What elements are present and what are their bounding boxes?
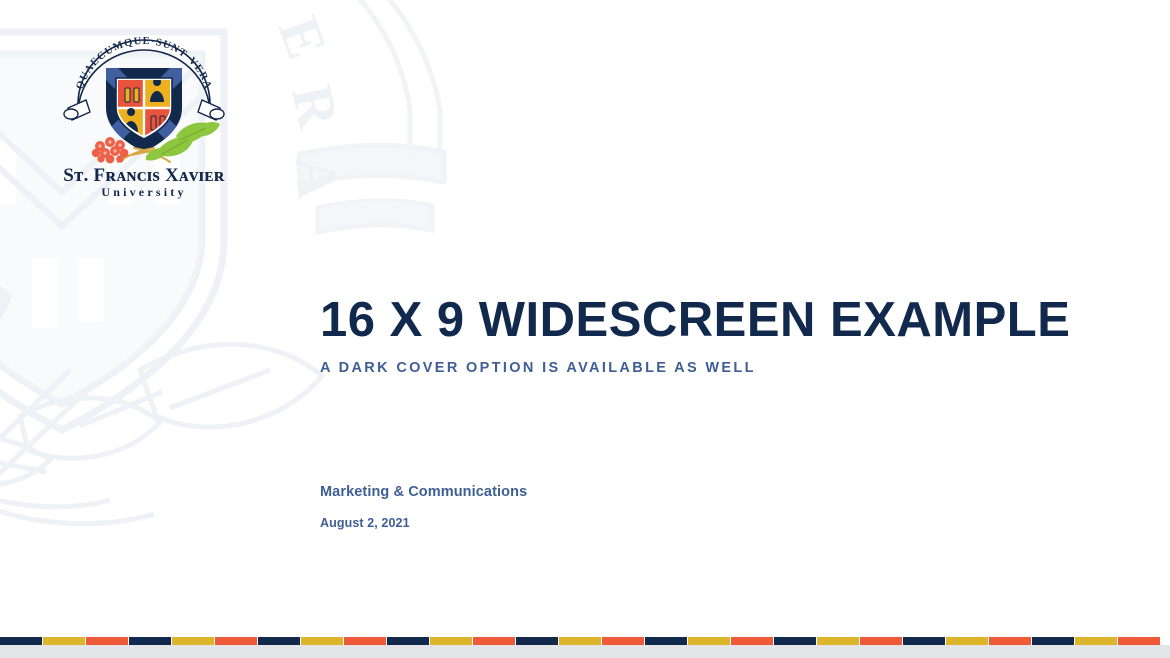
footer-stripe-segment-gold [817, 637, 859, 645]
footer-stripe-segment-gold [43, 637, 85, 645]
slide-title: 16 X 9 WIDESCREEN EXAMPLE [320, 295, 1080, 346]
footer-stripe-segment-orange [731, 637, 773, 645]
wordmark-line1: Sᴛ. Fʀᴀɴᴄɪs Xᴀᴠɪᴇʀ [63, 165, 224, 186]
footer-stripe-segment-navy [516, 637, 558, 645]
presenter-block: Marketing & Communications August 2, 202… [320, 484, 880, 530]
footer-stripe-segment-navy [645, 637, 687, 645]
footer-stripe-segment-gold [430, 637, 472, 645]
footer-stripe-segment-orange [1118, 637, 1160, 645]
footer-stripe-segment-orange [602, 637, 644, 645]
title-block: 16 X 9 WIDESCREEN EXAMPLE A DARK COVER O… [320, 295, 1080, 376]
footer-stripe-segment-navy [774, 637, 816, 645]
footer-accent-stripe [0, 637, 1170, 645]
footer-stripe-segment-orange [473, 637, 515, 645]
presentation-slide: V E R A [0, 0, 1170, 658]
footer-stripe-segment-gold [688, 637, 730, 645]
presenter-name: Marketing & Communications [320, 484, 880, 500]
university-wordmark: Sᴛ. Fʀᴀɴᴄɪs Xᴀᴠɪᴇʀ University [33, 162, 255, 202]
footer-stripe-segment-navy [258, 637, 300, 645]
footer-stripe-segment-orange [215, 637, 257, 645]
svg-text:E: E [266, 8, 340, 67]
footer-stripe-segment-navy [387, 637, 429, 645]
footer-stripe-segment-gold [559, 637, 601, 645]
svg-text:A: A [283, 154, 351, 200]
footer-stripe-segment-gold [172, 637, 214, 645]
slide-subtitle: A DARK COVER OPTION IS AVAILABLE AS WELL [320, 360, 1080, 376]
footer-stripe-segment-navy [0, 637, 42, 645]
footer-stripe-segment-navy [129, 637, 171, 645]
stfx-crest-icon: QUAECUMQUE·SUNT·VERA [60, 26, 228, 166]
wordmark-line2: University [101, 185, 186, 199]
footer-stripe-segment-gold [946, 637, 988, 645]
footer-stripe-segment-orange [86, 637, 128, 645]
university-logo: QUAECUMQUE·SUNT·VERA [24, 26, 264, 202]
footer-stripe-segment-gold [301, 637, 343, 645]
footer-stripe-segment-orange [860, 637, 902, 645]
watermark-leaves-icon [0, 330, 350, 550]
footer-stripe-segment-gold [1075, 637, 1117, 645]
presentation-date: August 2, 2021 [320, 516, 880, 530]
footer-stripe-segment-orange [989, 637, 1031, 645]
svg-text:R: R [279, 79, 352, 135]
svg-text:V: V [237, 0, 314, 13]
footer-stripe-segment-navy [1032, 637, 1074, 645]
footer-stripe-segment-orange [344, 637, 386, 645]
footer-stripe-segment-navy [903, 637, 945, 645]
